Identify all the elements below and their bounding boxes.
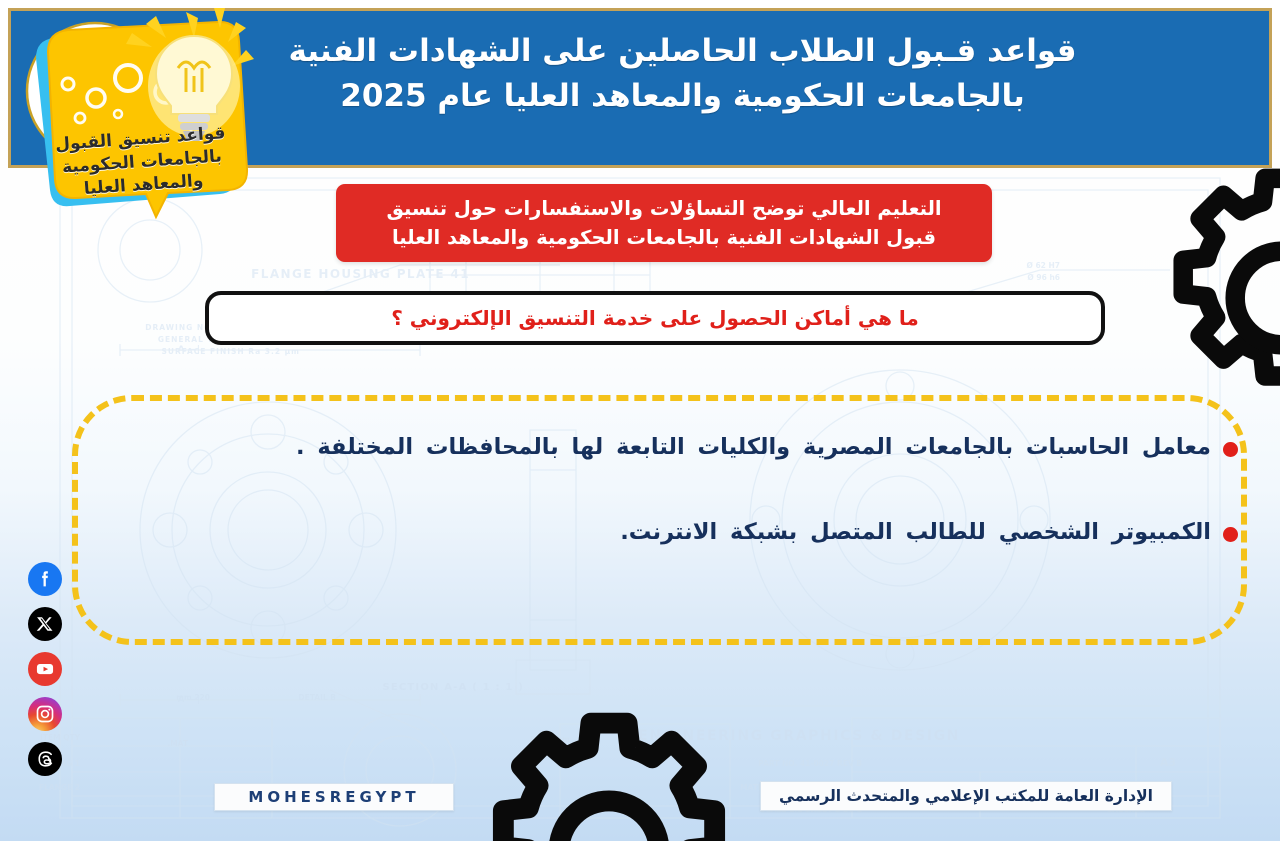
svg-text:SECTION A-A ( 1 : 1 ): SECTION A-A ( 1 : 1 )	[382, 682, 524, 693]
page-title: قواعد قـبول الطلاب الحاصلين على الشهادات…	[266, 29, 1099, 119]
infographic-poster: 41 FLANGE HOUSING PLATE DRAWING NOTES / …	[0, 0, 1280, 841]
red-banner-line-2: قبول الشهادات الفنية بالجامعات الحكومية …	[392, 223, 936, 252]
page-title-line-2: بالجامعات الحكومية والمعاهد العليا عام 2…	[266, 74, 1099, 119]
svg-text:|— A: |— A	[178, 695, 200, 705]
svg-text:A3: A3	[1160, 756, 1176, 769]
question-text: ما هي أماكن الحصول على خدمة التنسيق الإل…	[391, 306, 919, 330]
svg-text:R 0.5 mm: R 0.5 mm	[530, 735, 570, 744]
gear-decoration-right	[1152, 168, 1280, 428]
svg-text:PART NO. 41-0027 REV B: PART NO. 41-0027 REV B	[758, 759, 862, 768]
facebook-icon[interactable]	[28, 562, 62, 596]
list-item: معامل الحاسبات بالجامعات المصرية والكليا…	[143, 431, 1242, 464]
list-item: الكمبيوتر الشخصي للطالب المتصل بشبكة الا…	[143, 516, 1242, 549]
svg-text:MAT.: MAT.	[167, 739, 189, 748]
department-text: الإدارة العامة للمكتب الإعلامي والمتحدث …	[779, 787, 1153, 805]
lightbulb-badge: قواعد تنسيق القبول بالجامعات الحكومية وا…	[18, 6, 268, 221]
account-handle-chip[interactable]: MOHESREGYPT	[214, 783, 454, 811]
answer-text-2: الكمبيوتر الشخصي للطالب المتصل بشبكة الا…	[620, 516, 1211, 549]
youtube-icon[interactable]	[28, 652, 62, 686]
red-announcement-banner: التعليم العالي توضح التساؤلات والاستفسار…	[336, 184, 992, 262]
svg-text:DETAIL B: DETAIL B	[298, 693, 336, 702]
answer-text-1: معامل الحاسبات بالجامعات المصرية والكليا…	[296, 431, 1211, 464]
social-links-rail	[18, 562, 62, 787]
threads-icon[interactable]	[28, 742, 62, 776]
page-title-line-1: قواعد قـبول الطلاب الحاصلين على الشهادات…	[266, 29, 1099, 74]
svg-text:ENGINEERING GRAPHICS & DESIGN: ENGINEERING GRAPHICS & DESIGN	[638, 728, 960, 744]
svg-text:Ø 62 H7: Ø 62 H7	[1026, 261, 1060, 270]
x-twitter-icon[interactable]	[28, 607, 62, 641]
bullet-dot-icon	[1223, 442, 1238, 457]
account-handle-text: MOHESREGYPT	[248, 788, 419, 806]
red-banner-line-1: التعليم العالي توضح التساؤلات والاستفسار…	[386, 194, 941, 223]
svg-text:220 mm: 220 mm	[176, 693, 210, 702]
svg-text:41 FLANGE HOUSING PLATE: 41 FLANGE HOUSING PLATE	[251, 267, 470, 281]
gear-decoration-bottom	[470, 712, 748, 841]
svg-text:Ø 96 h6: Ø 96 h6	[1027, 273, 1060, 282]
question-box: ما هي أماكن الحصول على خدمة التنسيق الإل…	[205, 291, 1105, 345]
svg-text:M 8 x 20: M 8 x 20	[534, 749, 570, 758]
department-chip: الإدارة العامة للمكتب الإعلامي والمتحدث …	[760, 781, 1172, 811]
svg-text:|— A: |— A	[178, 345, 200, 355]
answer-list: معامل الحاسبات بالجامعات المصرية والكليا…	[105, 395, 1280, 645]
svg-text:SURFACE FINISH Ra 3.2 µm: SURFACE FINISH Ra 3.2 µm	[161, 347, 300, 356]
instagram-icon[interactable]	[28, 697, 62, 731]
bullet-dot-icon	[1223, 527, 1238, 542]
